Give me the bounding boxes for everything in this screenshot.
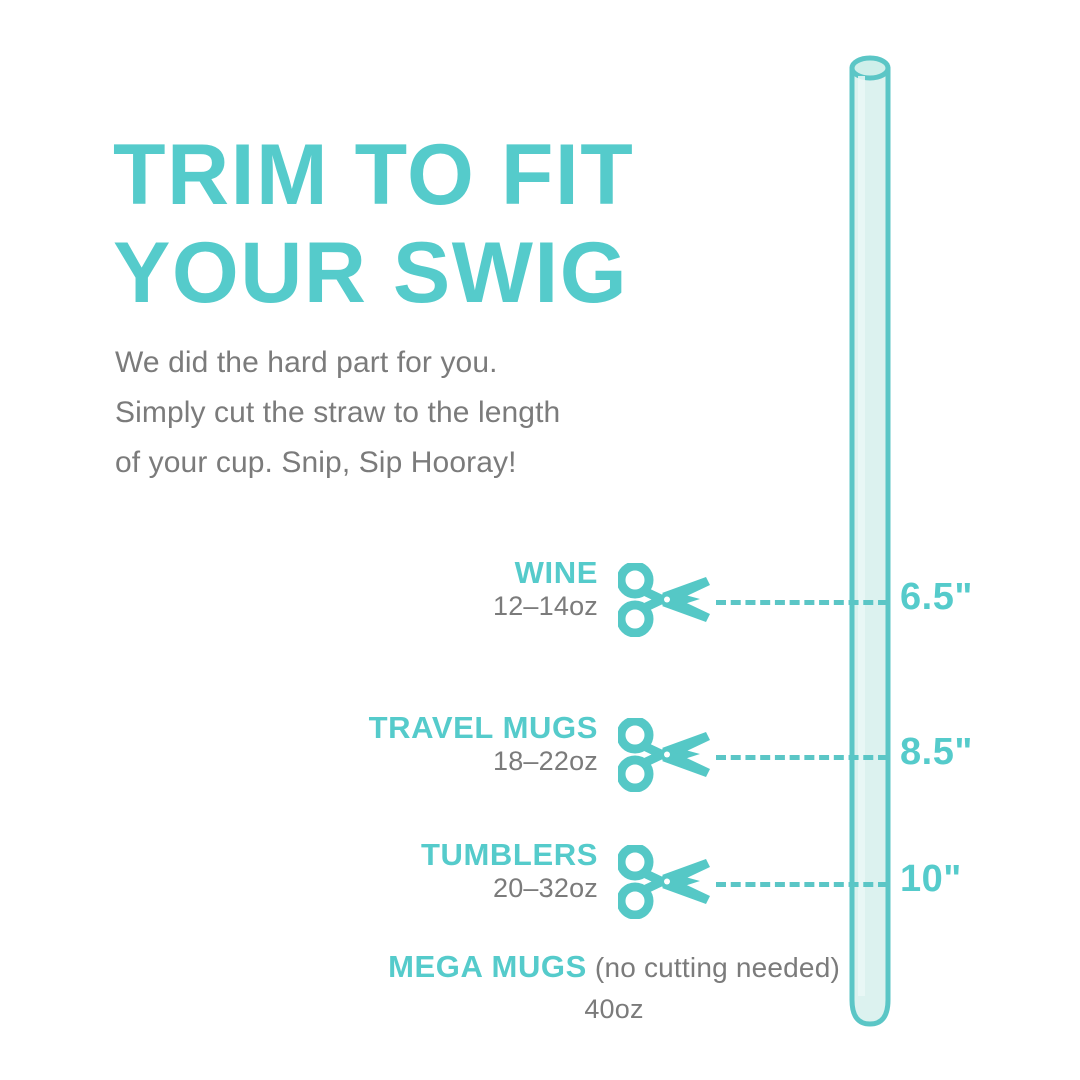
scissors-icon — [618, 563, 714, 637]
row-mega-mugs-capacity: 40oz — [388, 992, 840, 1026]
body-line-1: We did the hard part for you. — [115, 338, 715, 388]
row-travel-mugs-labels: TRAVEL MUGS 18–22oz — [369, 711, 598, 777]
headline-line-1: TRIM TO FIT — [113, 126, 773, 224]
body-line-2: Simply cut the straw to the length — [115, 388, 715, 438]
row-wine-capacity: 12–14oz — [493, 590, 598, 622]
headline-line-2: YOUR SWIG — [113, 224, 773, 322]
row-travel-mugs-capacity: 18–22oz — [369, 745, 598, 777]
measure-dashed-line — [716, 600, 888, 605]
row-wine-title: WINE — [493, 556, 598, 590]
row-travel-mugs-title: TRAVEL MUGS — [369, 711, 598, 745]
measure-dashed-line — [716, 882, 888, 887]
row-travel-mugs-measurement: 8.5" — [900, 731, 973, 774]
scissors-icon — [618, 718, 714, 792]
page-title: TRIM TO FIT YOUR SWIG — [113, 126, 773, 322]
row-tumblers-measurement: 10" — [900, 858, 962, 901]
infographic-canvas: TRIM TO FIT YOUR SWIG We did the hard pa… — [0, 0, 1080, 1080]
row-mega-mugs-title-line: MEGA MUGS (no cutting needed) — [388, 949, 840, 992]
scissors-icon — [618, 845, 714, 919]
body-copy: We did the hard part for you. Simply cut… — [115, 338, 715, 488]
row-wine-measurement: 6.5" — [900, 576, 973, 619]
measure-dashed-line — [716, 755, 888, 760]
row-tumblers-title: TUMBLERS — [421, 838, 598, 872]
row-mega-mugs-title: MEGA MUGS — [388, 949, 587, 984]
row-wine-labels: WINE 12–14oz — [493, 556, 598, 622]
row-mega-mugs-note: (no cutting needed) — [587, 952, 840, 983]
row-tumblers-labels: TUMBLERS 20–32oz — [421, 838, 598, 904]
row-tumblers-capacity: 20–32oz — [421, 872, 598, 904]
body-line-3: of your cup. Snip, Sip Hooray! — [115, 438, 715, 488]
row-mega-mugs-labels: MEGA MUGS (no cutting needed) 40oz — [388, 949, 840, 1026]
